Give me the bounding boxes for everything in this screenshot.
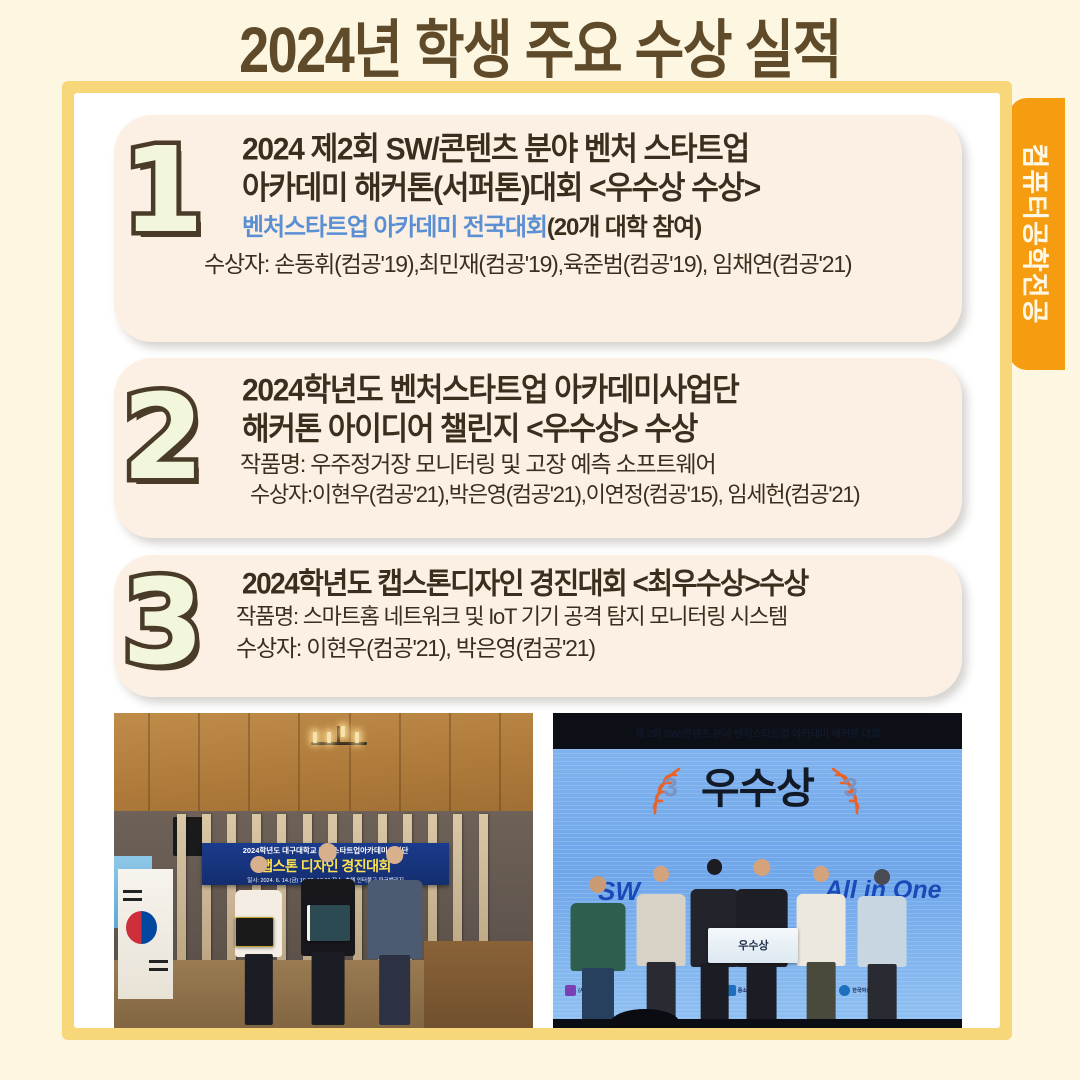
page-title: 2024년 학생 주요 수상 실적 [0,2,1080,86]
person-student-4 [794,866,847,1022]
award-plaque: 우수상 [708,928,798,964]
person-professor [365,846,424,1025]
person-student-female [231,856,285,1025]
award-work-title-3: 작품명: 스마트홈 네트워크 및 IoT 기기 공격 탐지 모니터링 시스템 [236,603,958,631]
korean-flag [118,869,172,999]
award-body-2: 2024학년도 벤처스타트업 아카데미사업단 해커톤 아이디어 챌린지 <우수상… [242,358,958,510]
person-student-1 [635,866,688,1022]
poster-panel: 1 2024 제2회 SW/콘텐츠 분야 벤처 스타트업 아카데미 해커톤(서퍼… [74,93,1000,1028]
award-body-3: 2024학년도 캡스톤디자인 경진대회 <최우수상>수상 작품명: 스마트홈 네… [242,555,958,663]
award-winners-2: 수상자:이현우(컴공'21),박은영(컴공'21),이연정(컴공'15), 임세… [250,481,958,509]
department-side-tab-label: 컴퓨터공학전공 [1018,144,1057,325]
award-headline-1-line2: 아카데미 해커톤(서퍼톤)대회 <우수상 수상> [242,168,958,209]
award-headline-2-line1: 2024학년도 벤처스타트업 아카데미사업단 [242,370,958,411]
award-headline-1-line1: 2024 제2회 SW/콘텐츠 분야 벤처 스타트업 [242,129,958,170]
led-screen-title: 제 2회 SW/콘텐츠 분야 벤처스타트업 아카데미 해커톤 대회 [553,726,962,741]
wood-slat [202,814,211,964]
award-subtitle-1-blue: 벤처스타트업 아카데미 전국대회 [242,214,547,241]
award-headline-2-line2: 해커톤 아이디어 챌린지 <우수상> 수상 [242,409,958,450]
award-card-1: 1 2024 제2회 SW/콘텐츠 분야 벤처 스타트업 아카데미 해커톤(서퍼… [114,115,962,342]
photo-gallery: 2024학년도 대구대학교 벤처스타트업아카데미사업단 캡스톤 디자인 경진대회… [114,713,962,1028]
award-work-title-2: 작품명: 우주정거장 모니터링 및 고장 예측 소프트웨어 [240,450,958,479]
person-host [569,876,626,1022]
award-plaque-label: 우수상 [738,937,768,953]
award-winners-1: 수상자: 손동휘(컴공'19),최민재(컴공'19),육준범(컴공'19), 임… [204,250,958,279]
person-student-male [298,843,357,1025]
award-subtitle-1-dark: (20개 대학 참여) [547,214,701,241]
poster-root: 2024년 학생 주요 수상 실적 컴퓨터공학전공 1 2024 제2회 SW/… [0,0,1080,1080]
award-subtitle-1: 벤처스타트업 아카데미 전국대회(20개 대학 참여) [242,213,958,243]
photo-capstone-ceremony: 2024학년도 대구대학교 벤처스타트업아카데미사업단 캡스톤 디자인 경진대회… [114,713,533,1028]
stage-floor-right [424,941,533,1029]
wood-slat [177,814,186,964]
award-number-1: 1 [122,131,204,249]
award-number-3: 3 [122,563,204,681]
award-card-2: 2 2024학년도 벤처스타트업 아카데미사업단 해커톤 아이디어 챌린지 <우… [114,358,962,538]
award-number-2: 2 [122,378,204,496]
award-label-screen: 우수상 [553,755,962,816]
department-side-tab: 컴퓨터공학전공 [1009,98,1065,370]
photo-hackathon-ceremony: 제 2회 SW/콘텐츠 분야 벤처스타트업 아카데미 해커톤 대회 [553,713,962,1028]
award-headline-3-line1: 2024학년도 캡스톤디자인 경진대회 <최우수상>수상 [242,565,958,604]
award-winners-3: 수상자: 이현우(컴공'21), 박은영(컴공'21) [236,634,958,663]
page-title-text: 2024년 학생 주요 수상 실적 [239,0,841,91]
award-body-1: 2024 제2회 SW/콘텐츠 분야 벤처 스타트업 아카데미 해커톤(서퍼톤)… [242,115,958,279]
award-card-3: 3 2024학년도 캡스톤디자인 경진대회 <최우수상>수상 작품명: 스마트홈… [114,555,962,697]
poster-frame: 1 2024 제2회 SW/콘텐츠 분야 벤처 스타트업 아카데미 해커톤(서퍼… [62,81,1012,1040]
person-student-5 [856,869,909,1022]
chandelier-icon [311,726,367,760]
